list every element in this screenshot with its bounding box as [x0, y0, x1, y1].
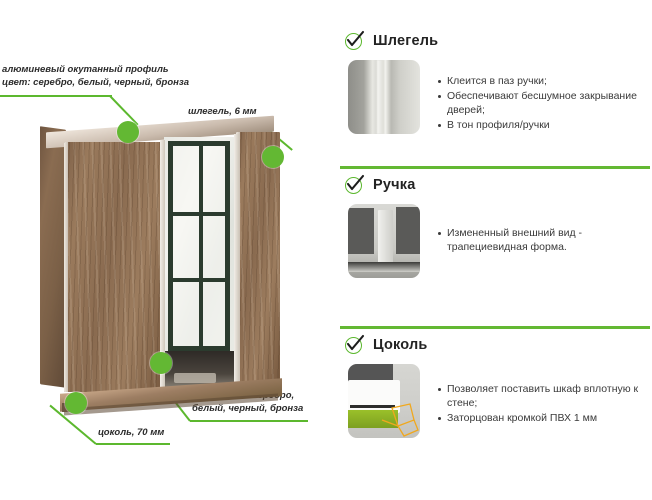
- bullet-item: Заторцован кромкой ПВХ 1 мм: [436, 411, 652, 425]
- feature-section-handle: Ручка Измененный внешний вид - трапециев…: [338, 172, 652, 278]
- callout-dot-plinth: [65, 392, 87, 414]
- bullet-item: В тон профиля/ручки: [436, 118, 652, 132]
- wardrobe-left-side: [40, 126, 66, 388]
- wardrobe-mirror-door: [164, 137, 238, 389]
- feature-bullets-shlegel: Клеится в паз ручки; Обеспечивают бесшум…: [436, 60, 652, 133]
- check-circle-icon: [344, 32, 363, 51]
- features-panel: Шлегель Клеится в паз ручки; Обеспечиваю…: [338, 0, 652, 500]
- wardrobe-door-left: [64, 142, 164, 392]
- callout-dot-handles: [150, 352, 172, 374]
- feature-header-handle: Ручка: [338, 172, 652, 198]
- wardrobe-handle-right: [234, 134, 239, 382]
- feature-bullets-handle: Измененный внешний вид - трапециевидная …: [436, 204, 652, 255]
- mirror-reflection-frame: [168, 141, 230, 351]
- feature-section-shlegel: Шлегель Клеится в паз ручки; Обеспечиваю…: [338, 28, 652, 134]
- check-circle-icon: [344, 176, 363, 195]
- section-divider-2: [340, 326, 650, 329]
- callout-dot-profile: [117, 121, 139, 143]
- feature-header-shlegel: Шлегель: [338, 28, 652, 54]
- annotation-handles-rule: [190, 420, 308, 422]
- annotation-profile-line2: цвет: серебро, белый, черный, бронза: [2, 77, 189, 90]
- bullet-item: Измененный внешний вид - трапециевидная …: [436, 226, 652, 254]
- feature-thumbnail-shlegel: [348, 60, 420, 134]
- annotation-profile-line1: алюминевый окутанный профиль: [2, 64, 169, 77]
- feature-title-handle: Ручка: [373, 177, 415, 193]
- wardrobe-illustration-panel: алюминевый окутанный профиль цвет: сереб…: [0, 0, 338, 500]
- wardrobe-handle-left: [160, 140, 165, 388]
- feature-header-plinth: Цоколь: [338, 332, 652, 358]
- annotation-plinth-rule: [96, 443, 170, 445]
- bullet-item: Клеится в паз ручки;: [436, 74, 652, 88]
- feature-thumbnail-plinth: [348, 364, 420, 438]
- annotation-plinth-line1: цоколь, 70 мм: [98, 427, 164, 440]
- wardrobe-door-right: [236, 132, 280, 382]
- feature-title-plinth: Цоколь: [373, 337, 428, 353]
- feature-title-shlegel: Шлегель: [373, 33, 438, 49]
- bullet-item: Позволяет поставить шкаф вплотную к стен…: [436, 382, 652, 410]
- feature-thumbnail-handle: [348, 204, 420, 278]
- section-divider-1: [340, 166, 650, 169]
- bullet-item: Обеспечивают бесшумное закрывание дверей…: [436, 89, 652, 117]
- check-circle-icon: [344, 336, 363, 355]
- feature-bullets-plinth: Позволяет поставить шкаф вплотную к стен…: [436, 364, 652, 426]
- feature-section-plinth: Цоколь Позволяет поставить шкаф вплотную…: [338, 332, 652, 438]
- callout-dot-shlegel: [262, 146, 284, 168]
- annotation-profile-rule: [0, 95, 112, 97]
